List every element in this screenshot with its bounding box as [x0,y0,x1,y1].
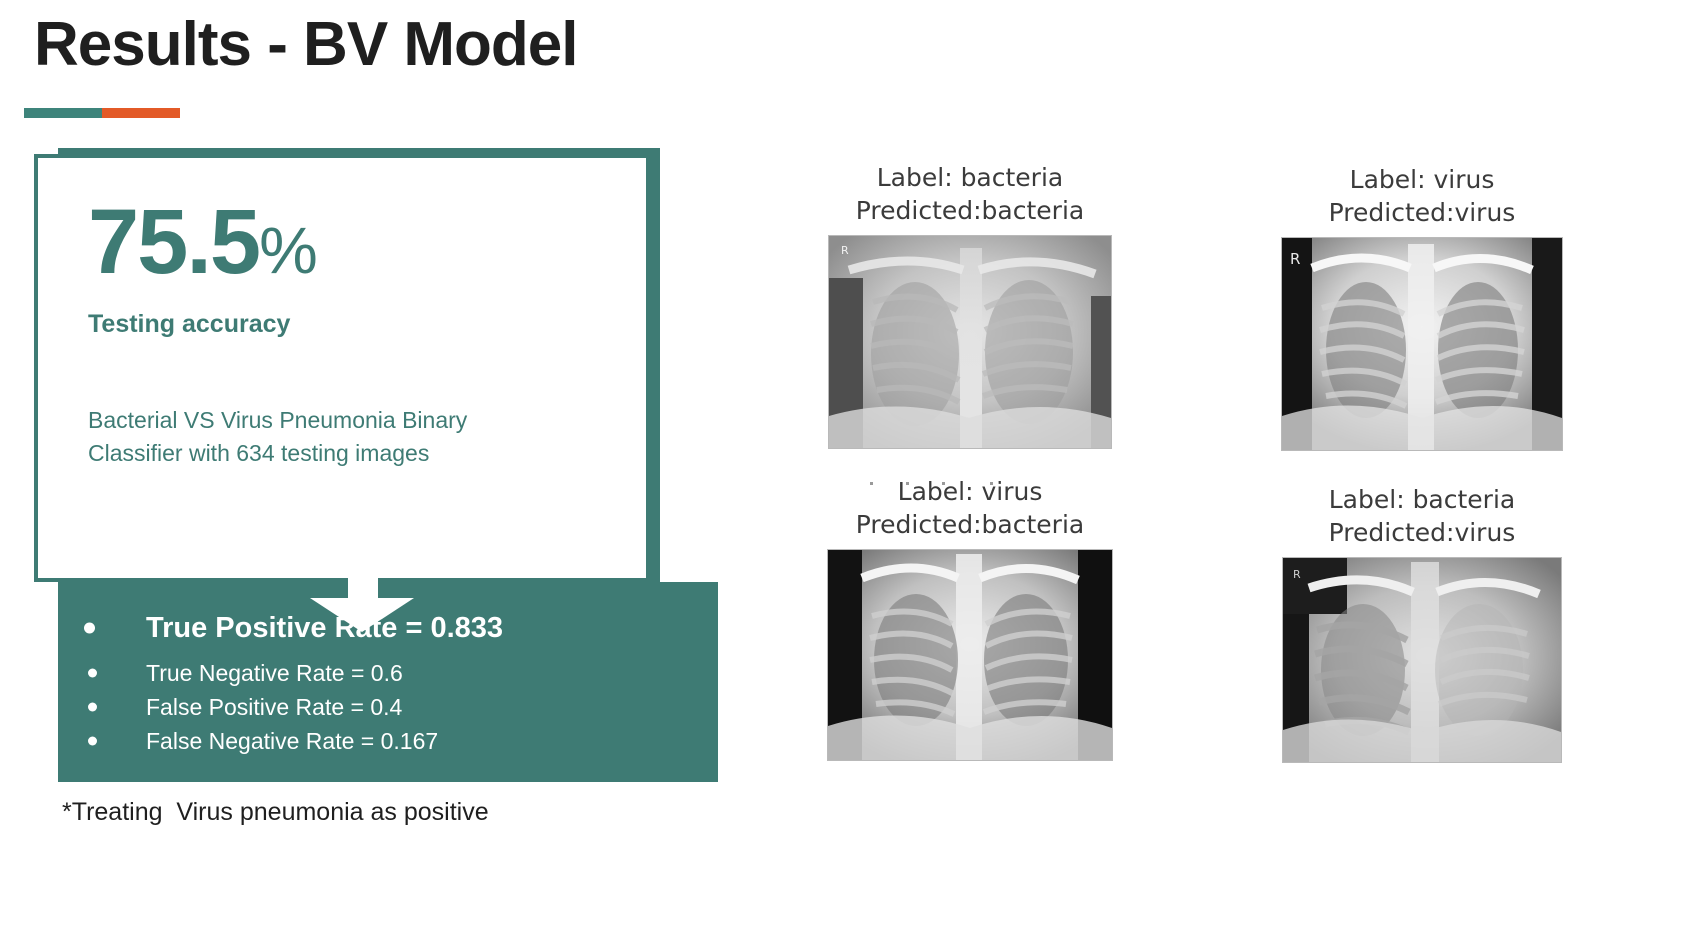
metric-label: True Negative Rate = 0.6 [146,660,403,686]
accent-rule [24,108,180,118]
xray-cell-3: Label: virus Predicted:bacteria [760,476,1180,761]
model-description: Bacterial VS Virus Pneumonia Binary Clas… [88,404,558,471]
svg-text:R: R [1290,250,1300,268]
bullet-icon [88,703,97,712]
xray-predicted-label-1: Predicted:bacteria [760,195,1180,228]
metric-label: False Positive Rate = 0.4 [146,694,402,720]
footnote: *Treating Virus pneumonia as positive [62,798,489,827]
xray-predicted-label-3: Predicted:bacteria [760,509,1180,542]
xray-true-label-3: Label: virus [760,476,1180,509]
testing-accuracy-value: 75.5% [88,196,317,288]
xray-cell-4: Label: bacteria Predicted:virus [1212,484,1632,763]
list-item: True Negative Rate = 0.6 [58,656,718,690]
down-arrow-head [310,598,414,632]
svg-text:R: R [841,244,849,257]
xray-cell-1: Label: bacteria Predicted:bacteria [760,162,1180,449]
down-arrow-icon [310,578,414,630]
percent-sign: % [259,213,317,287]
xray-true-label-1: Label: bacteria [760,162,1180,195]
bullet-icon [88,737,97,746]
accent-rule-orange-segment [102,108,180,118]
metric-label: False Negative Rate = 0.167 [146,728,438,754]
xray-true-label-2: Label: virus [1212,164,1632,197]
bullet-icon [84,623,95,634]
list-item: False Positive Rate = 0.4 [58,690,718,724]
xray-image-2: R [1281,237,1563,451]
accent-rule-teal-segment [24,108,102,118]
xray-predicted-label-2: Predicted:virus [1212,197,1632,230]
xray-image-4: R [1282,557,1562,763]
list-item: False Negative Rate = 0.167 [58,724,718,758]
svg-text:R: R [1293,568,1301,581]
xray-cell-2: Label: virus Predicted:virus [1212,164,1632,451]
testing-accuracy-caption: Testing accuracy [88,310,290,339]
testing-accuracy-number: 75.5 [88,191,259,293]
xray-image-3 [827,549,1113,761]
xray-true-label-4: Label: bacteria [1212,484,1632,517]
page-title: Results - BV Model [34,8,578,82]
xray-image-1: R [828,235,1112,449]
xray-sample-grid: Label: bacteria Predicted:bacteria [760,150,1660,810]
bullet-icon [88,669,97,678]
xray-predicted-label-4: Predicted:virus [1212,517,1632,550]
